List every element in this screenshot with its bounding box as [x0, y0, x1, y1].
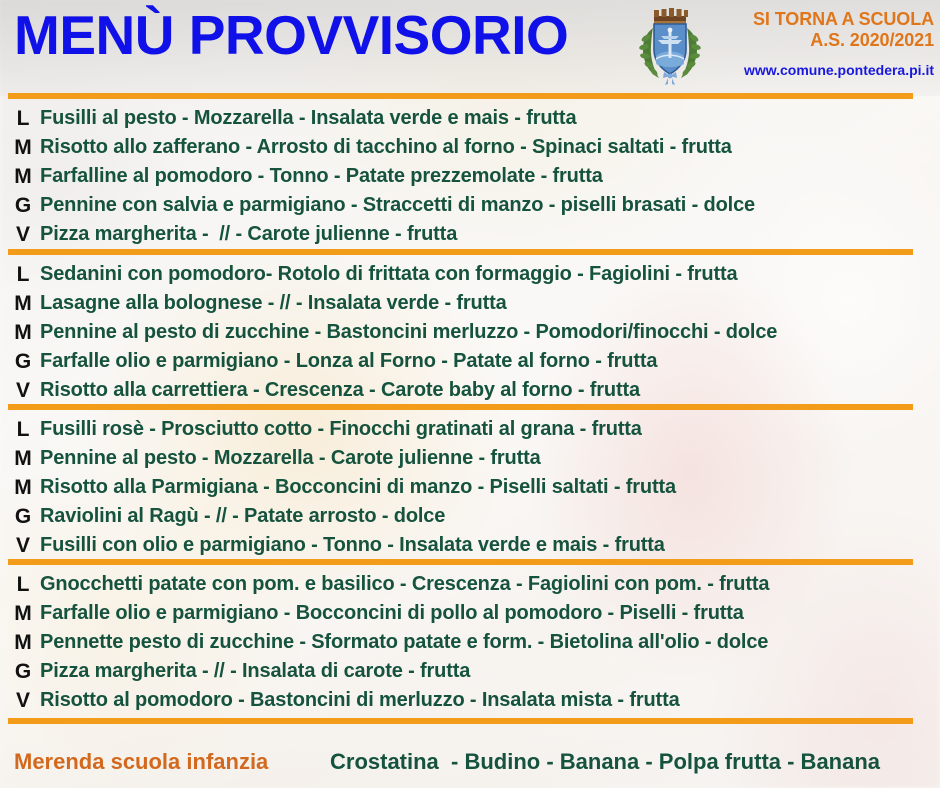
day-menu-text: Farfalline al pomodoro - Tonno - Patate …	[40, 162, 603, 191]
day-letter: L	[10, 260, 36, 289]
day-letter: V	[10, 220, 36, 249]
day-letter: M	[10, 133, 36, 162]
poster-content: MENÙ PROVVISORIO	[0, 0, 940, 788]
day-menu-text: Farfalle olio e parmigiano - Bocconcini …	[40, 599, 744, 628]
day-menu-text: Sedanini con pomodoro- Rotolo di frittat…	[40, 260, 737, 289]
tagline-line-2: A.S. 2020/2021	[700, 30, 934, 51]
day-menu-text: Fusilli rosè - Prosciutto cotto - Finocc…	[40, 415, 642, 444]
day-letter: V	[10, 531, 36, 560]
menu-row: M Lasagne alla bolognese - // - Insalata…	[0, 289, 940, 318]
day-menu-text: Farfalle olio e parmigiano - Lonza al Fo…	[40, 347, 657, 376]
divider-week-1	[8, 249, 913, 255]
day-menu-text: Pizza margherita - // - Carote julienne …	[40, 220, 457, 249]
day-menu-text: Pennette pesto di zucchine - Sformato pa…	[40, 628, 768, 657]
menu-row: G Pizza margherita - // - Insalata di ca…	[0, 657, 940, 686]
week-block-4: L Gnocchetti patate con pom. e basilico …	[0, 570, 940, 715]
menu-row: M Risotto allo zafferano - Arrosto di ta…	[0, 133, 940, 162]
day-letter: L	[10, 415, 36, 444]
menu-row: M Risotto alla Parmigiana - Bocconcini d…	[0, 473, 940, 502]
day-menu-text: Risotto alla carrettiera - Crescenza - C…	[40, 376, 640, 405]
day-menu-text: Pizza margherita - // - Insalata di caro…	[40, 657, 470, 686]
menu-row: M Pennette pesto di zucchine - Sformato …	[0, 628, 940, 657]
day-letter: V	[10, 686, 36, 715]
day-letter: M	[10, 162, 36, 191]
divider-week-4	[8, 718, 913, 724]
header-tagline: SI TORNA A SCUOLA A.S. 2020/2021	[700, 9, 934, 51]
menu-row: V Fusilli con olio e parmigiano - Tonno …	[0, 531, 940, 560]
menu-row: V Risotto alla carrettiera - Crescenza -…	[0, 376, 940, 405]
week-block-2: L Sedanini con pomodoro- Rotolo di fritt…	[0, 260, 940, 405]
day-letter: G	[10, 502, 36, 531]
day-letter: G	[10, 657, 36, 686]
week-block-1: L Fusilli al pesto - Mozzarella - Insala…	[0, 104, 940, 249]
menu-row: G Farfalle olio e parmigiano - Lonza al …	[0, 347, 940, 376]
day-menu-text: Pennine al pesto di zucchine - Bastoncin…	[40, 318, 777, 347]
day-letter: M	[10, 473, 36, 502]
menu-row: L Sedanini con pomodoro- Rotolo di fritt…	[0, 260, 940, 289]
snack-label: Merenda scuola infanzia	[14, 744, 268, 780]
menu-row: M Farfalle olio e parmigiano - Bocconcin…	[0, 599, 940, 628]
day-menu-text: Pennine con salvia e parmigiano - Stracc…	[40, 191, 755, 220]
day-menu-text: Risotto al pomodoro - Bastoncini di merl…	[40, 686, 680, 715]
snack-items: Crostatina - Budino - Banana - Polpa fru…	[330, 744, 880, 780]
menu-row: V Risotto al pomodoro - Bastoncini di me…	[0, 686, 940, 715]
day-letter: G	[10, 347, 36, 376]
day-letter: G	[10, 191, 36, 220]
divider-top	[8, 93, 913, 99]
day-menu-text: Fusilli al pesto - Mozzarella - Insalata…	[40, 104, 576, 133]
day-letter: M	[10, 318, 36, 347]
day-letter: M	[10, 628, 36, 657]
menu-row: M Pennine al pesto - Mozzarella - Carote…	[0, 444, 940, 473]
day-letter: V	[10, 376, 36, 405]
day-menu-text: Lasagne alla bolognese - // - Insalata v…	[40, 289, 507, 318]
day-letter: L	[10, 570, 36, 599]
page-title: MENÙ PROVVISORIO	[14, 8, 568, 63]
day-letter: M	[10, 444, 36, 473]
menu-row: L Fusilli rosè - Prosciutto cotto - Fino…	[0, 415, 940, 444]
day-menu-text: Pennine al pesto - Mozzarella - Carote j…	[40, 444, 541, 473]
day-letter: M	[10, 289, 36, 318]
day-letter: M	[10, 599, 36, 628]
menu-poster: MENÙ PROVVISORIO	[0, 0, 940, 788]
menu-row: M Pennine al pesto di zucchine - Bastonc…	[0, 318, 940, 347]
day-menu-text: Risotto allo zafferano - Arrosto di tacc…	[40, 133, 732, 162]
website-link[interactable]: www.comune.pontedera.pi.it	[700, 62, 934, 78]
snack-footer: Merenda scuola infanzia Crostatina - Bud…	[0, 744, 940, 788]
menu-row: L Gnocchetti patate con pom. e basilico …	[0, 570, 940, 599]
week-block-3: L Fusilli rosè - Prosciutto cotto - Fino…	[0, 415, 940, 560]
day-menu-text: Fusilli con olio e parmigiano - Tonno - …	[40, 531, 665, 560]
day-letter: L	[10, 104, 36, 133]
menu-row: V Pizza margherita - // - Carote julienn…	[0, 220, 940, 249]
day-menu-text: Gnocchetti patate con pom. e basilico - …	[40, 570, 769, 599]
day-menu-text: Raviolini al Ragù - // - Patate arrosto …	[40, 502, 445, 531]
tagline-line-1: SI TORNA A SCUOLA	[700, 9, 934, 30]
menu-row: M Farfalline al pomodoro - Tonno - Patat…	[0, 162, 940, 191]
day-menu-text: Risotto alla Parmigiana - Bocconcini di …	[40, 473, 676, 502]
menu-row: L Fusilli al pesto - Mozzarella - Insala…	[0, 104, 940, 133]
menu-row: G Raviolini al Ragù - // - Patate arrost…	[0, 502, 940, 531]
menu-row: G Pennine con salvia e parmigiano - Stra…	[0, 191, 940, 220]
poster-header: MENÙ PROVVISORIO	[0, 0, 940, 97]
coat-of-arms-icon	[634, 6, 706, 90]
